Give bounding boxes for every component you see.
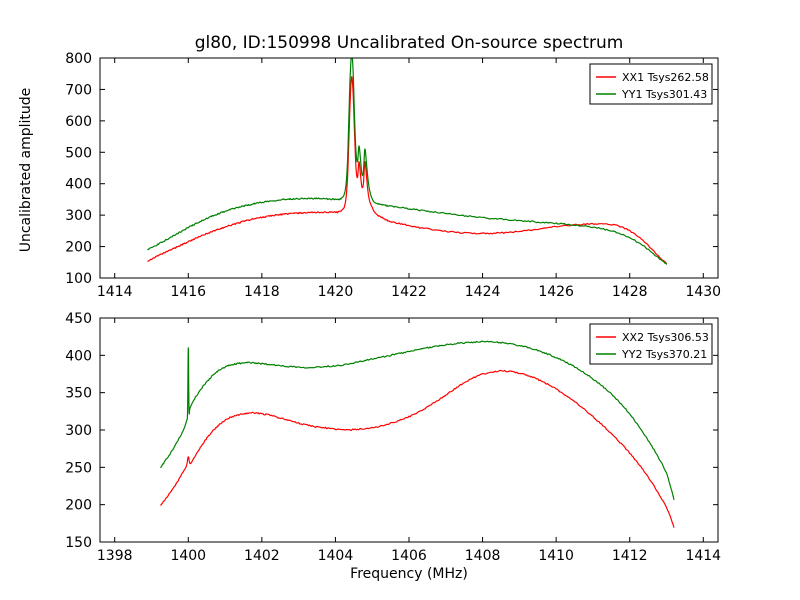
x-tick-label: 1426 — [538, 284, 574, 300]
legend-entry-label: XX1 Tsys262.58 — [622, 71, 709, 84]
x-tick-label: 1420 — [318, 284, 354, 300]
x-tick-label: 1418 — [244, 284, 280, 300]
x-tick-label: 1412 — [612, 548, 648, 564]
lower-legend: XX2 Tsys306.53YY2 Tsys370.21 — [590, 324, 712, 364]
x-tick-label: 1424 — [465, 284, 501, 300]
y-tick-label: 400 — [65, 348, 92, 364]
y-tick-label: 300 — [65, 423, 92, 439]
y-tick-label: 400 — [65, 177, 92, 193]
y-tick-label: 300 — [65, 208, 92, 224]
y-axis-label: Uncalibrated amplitude — [18, 88, 34, 253]
x-tick-label: 1428 — [612, 284, 648, 300]
x-tick-label: 1430 — [685, 284, 721, 300]
y-tick-label: 350 — [65, 386, 92, 402]
y-tick-label: 250 — [65, 460, 92, 476]
page-title: gl80, ID:150998 Uncalibrated On-source s… — [195, 33, 624, 53]
legend-entry-label: YY2 Tsys370.21 — [621, 348, 707, 361]
x-tick-label: 1400 — [170, 548, 206, 564]
x-tick-label: 1410 — [538, 548, 574, 564]
upper-legend: XX1 Tsys262.58YY1 Tsys301.43 — [590, 64, 712, 104]
x-tick-label: 1406 — [391, 548, 427, 564]
y-tick-label: 500 — [65, 145, 92, 161]
x-axis-label: Frequency (MHz) — [350, 566, 468, 582]
x-tick-label: 1422 — [391, 284, 427, 300]
y-tick-label: 700 — [65, 82, 92, 98]
y-tick-label: 200 — [65, 240, 92, 256]
figure-canvas: gl80, ID:150998 Uncalibrated On-source s… — [0, 0, 800, 600]
legend-entry-label: XX2 Tsys306.53 — [622, 331, 709, 344]
x-tick-label: 1416 — [170, 284, 206, 300]
spectrum-figure: gl80, ID:150998 Uncalibrated On-source s… — [0, 0, 800, 600]
y-tick-label: 800 — [65, 51, 92, 67]
x-tick-label: 1398 — [97, 548, 133, 564]
x-tick-label: 1402 — [244, 548, 280, 564]
y-tick-label: 200 — [65, 498, 92, 514]
y-tick-label: 100 — [65, 271, 92, 287]
y-tick-label: 600 — [65, 114, 92, 130]
x-tick-label: 1414 — [97, 284, 133, 300]
y-tick-label: 450 — [65, 311, 92, 327]
x-tick-label: 1408 — [465, 548, 501, 564]
x-tick-label: 1404 — [318, 548, 354, 564]
y-tick-label: 150 — [65, 535, 92, 551]
legend-entry-label: YY1 Tsys301.43 — [621, 88, 707, 101]
x-tick-label: 1414 — [685, 548, 721, 564]
